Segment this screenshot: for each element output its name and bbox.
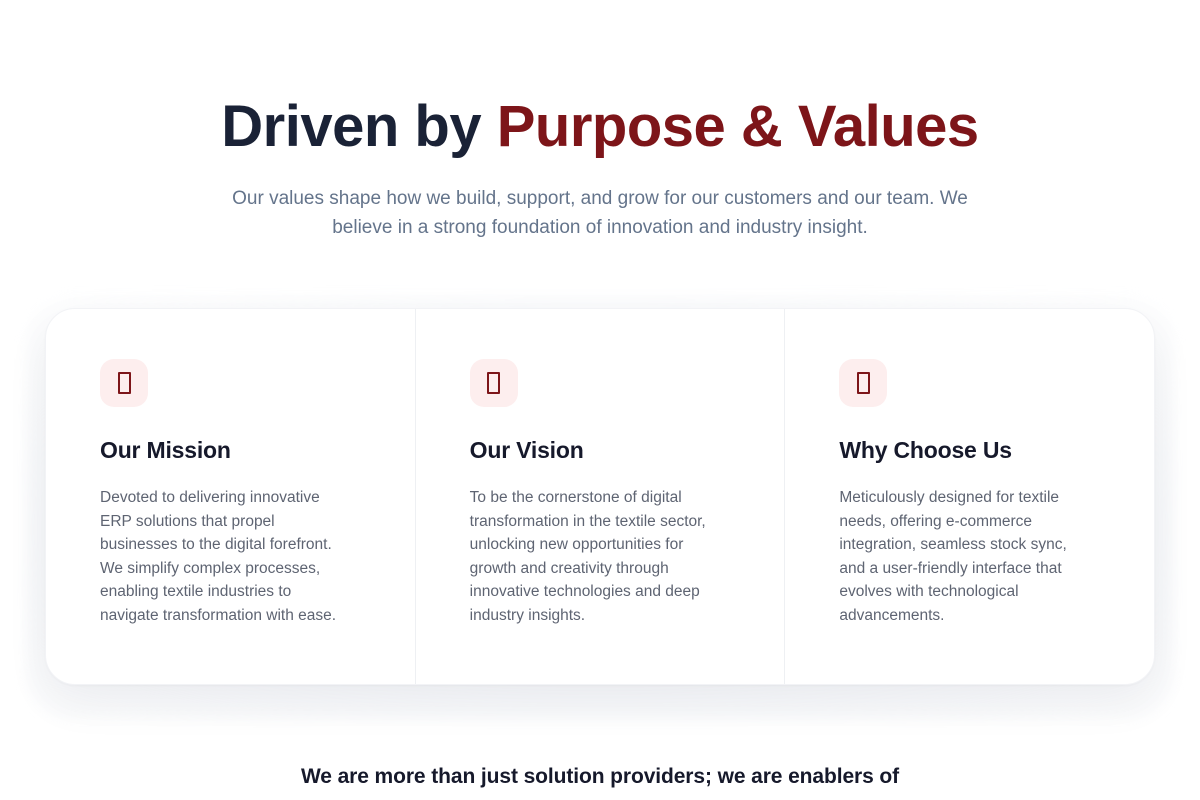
value-card-why-choose-us[interactable]: Why Choose Us Meticulously designed for … — [784, 309, 1154, 684]
value-card-vision[interactable]: Our Vision To be the cornerstone of digi… — [415, 309, 785, 684]
bottom-statement: We are more than just solution providers… — [0, 763, 1200, 791]
value-card-mission[interactable]: Our Mission Devoted to delivering innova… — [46, 309, 415, 684]
values-cards-region: Our Mission Devoted to delivering innova… — [45, 308, 1155, 685]
card-title-vision: Our Vision — [470, 437, 737, 465]
card-body-why-choose-us: Meticulously designed for textile needs,… — [839, 486, 1091, 627]
values-cards-panel: Our Mission Devoted to delivering innova… — [45, 308, 1155, 685]
missing-glyph-box-icon — [470, 359, 518, 407]
page-title-accent: Purpose & Values — [497, 94, 979, 159]
values-section-page: Driven by Purpose & Values Our values sh… — [0, 0, 1200, 800]
tofu-box-shape — [857, 372, 870, 394]
page-title: Driven by Purpose & Values — [80, 96, 1120, 157]
card-title-why-choose-us: Why Choose Us — [839, 437, 1106, 465]
tofu-box-shape — [118, 372, 131, 394]
missing-glyph-box-icon — [100, 359, 148, 407]
card-body-vision: To be the cornerstone of digital transfo… — [470, 486, 722, 627]
missing-glyph-box-icon — [839, 359, 887, 407]
tofu-box-shape — [487, 372, 500, 394]
page-title-lead: Driven by — [221, 94, 496, 159]
card-title-mission: Our Mission — [100, 437, 367, 465]
section-header: Driven by Purpose & Values Our values sh… — [0, 0, 1200, 242]
card-body-mission: Devoted to delivering innovative ERP sol… — [100, 486, 352, 627]
section-subtitle: Our values shape how we build, support, … — [226, 185, 974, 241]
